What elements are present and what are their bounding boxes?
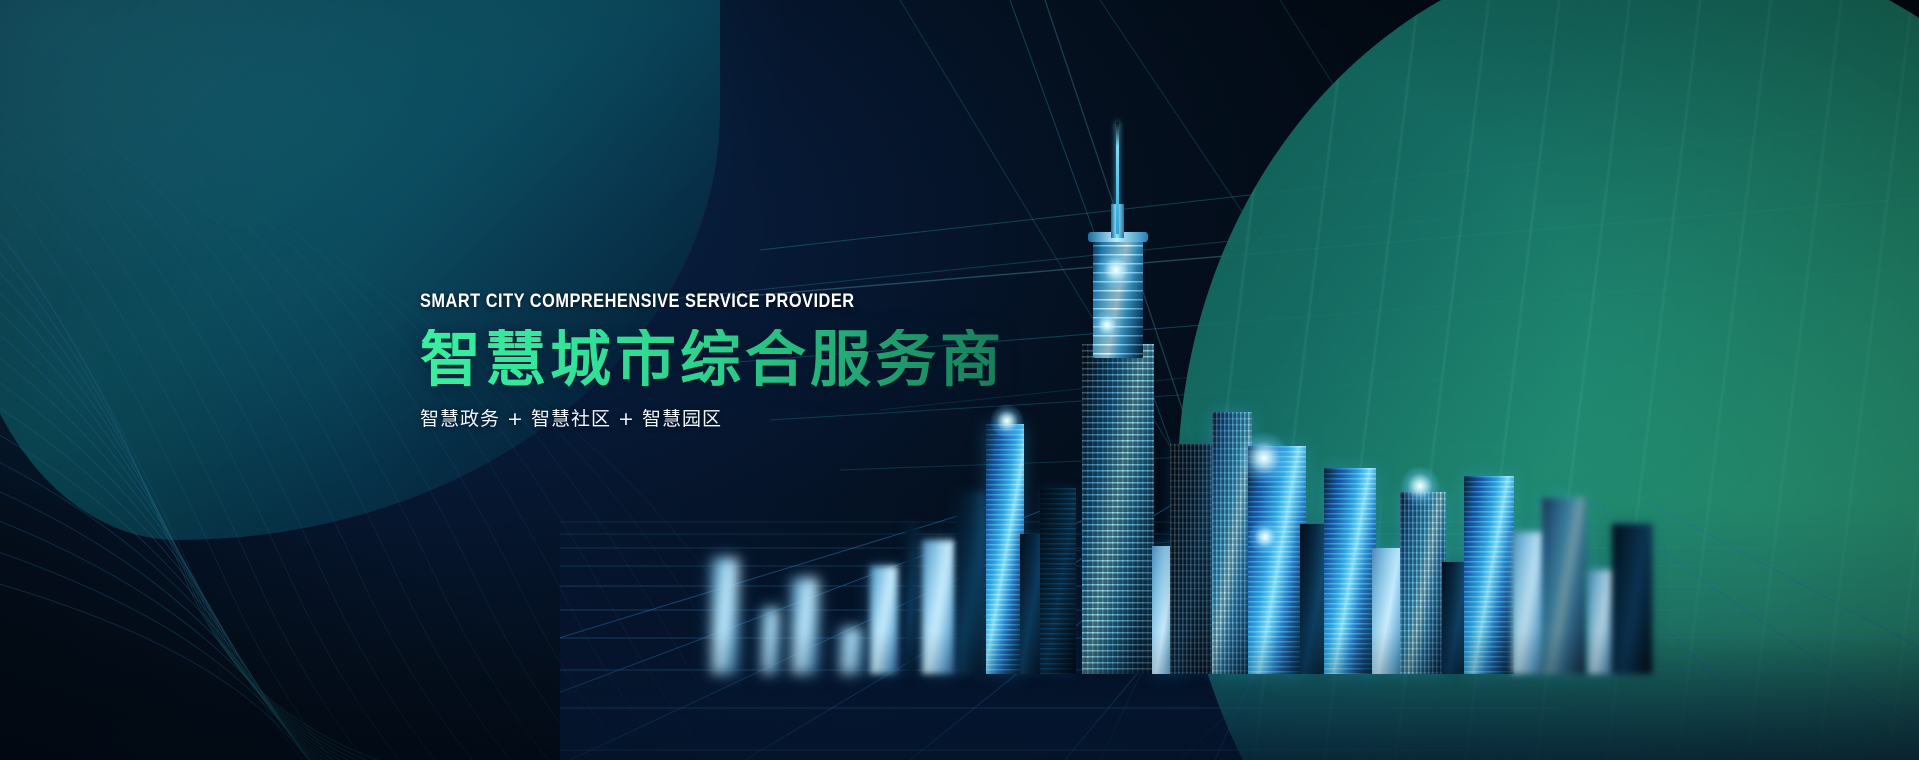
hero-copy-block: SMART CITY COMPREHENSIVE SERVICE PROVIDE… <box>420 292 1060 429</box>
banner-headline: 智慧城市综合服务商 <box>420 329 1060 390</box>
bottom-fade-overlay <box>0 630 1919 760</box>
smart-city-hero-banner: SMART CITY COMPREHENSIVE SERVICE PROVIDE… <box>0 0 1919 760</box>
banner-eyebrow-english: SMART CITY COMPREHENSIVE SERVICE PROVIDE… <box>420 292 970 311</box>
banner-tagline: 智慧政务 + 智慧社区 + 智慧园区 <box>420 410 1060 429</box>
